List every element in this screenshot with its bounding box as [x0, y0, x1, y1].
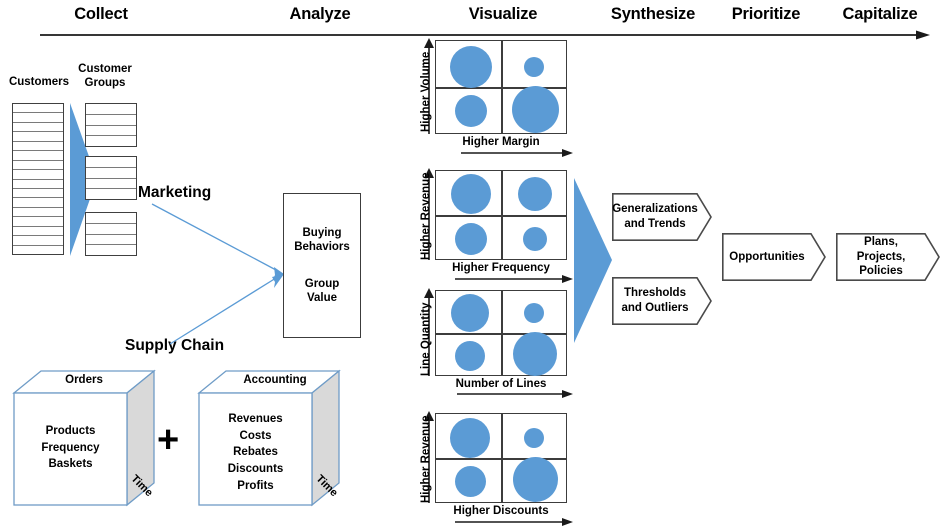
bubble-chart-4: Higher Revenue Higher Discounts: [400, 411, 575, 526]
table-row: [86, 224, 136, 235]
diagram-canvas: Collect Analyze Visualize Synthesize Pri…: [0, 0, 943, 531]
buying-behaviors-line1: Buying: [303, 226, 342, 240]
bubble-top-right: [518, 177, 552, 211]
chart-1-x-axis-arrow-icon: [461, 149, 573, 159]
table-row: [86, 115, 136, 126]
bubble-bottom-right: [513, 332, 557, 376]
table-row: [86, 126, 136, 137]
accounting-body-line1: Revenues: [199, 411, 312, 428]
plans-line1: Plans, Projects,: [842, 235, 920, 265]
bubble-chart-2: Higher Revenue Higher Frequency: [400, 168, 575, 278]
bubble-top-right: [524, 57, 544, 77]
orders-body-line1: Products: [14, 423, 127, 440]
bubble-bottom-right: [513, 457, 558, 502]
accounting-body: Revenues Costs Rebates Discounts Profits: [199, 411, 312, 494]
accounting-body-line5: Profits: [199, 478, 312, 495]
customer-group-table-3: [85, 212, 137, 256]
thresholds-and-outliers-chevron[interactable]: Thresholds and Outliers: [612, 277, 712, 325]
bubble-top-right: [524, 303, 544, 323]
phase-header-collect: Collect: [31, 5, 171, 24]
bubble-bottom-right: [512, 86, 559, 133]
orders-body-line2: Frequency: [14, 440, 127, 457]
bubble-top-left: [451, 174, 491, 214]
bubble-bottom-left: [455, 95, 487, 127]
opportunities-chevron[interactable]: Opportunities: [722, 233, 826, 281]
chart-1-y-axis-label: Higher Volume: [420, 52, 432, 132]
convergence-arrows-icon: [148, 198, 288, 350]
chart-4-y-axis-label: Higher Revenue: [420, 415, 432, 503]
phase-header-capitalize: Capitalize: [810, 5, 943, 24]
customers-table: [12, 103, 64, 255]
generalizations-and-trends-text: Generalizations and Trends: [612, 193, 698, 241]
bubble-top-right: [524, 428, 544, 448]
table-row: [13, 170, 63, 179]
chart-4-plot-area: [435, 413, 567, 503]
table-row: [86, 104, 136, 115]
chart-1-plot-area: [435, 40, 567, 134]
thresholds-line1: Thresholds: [621, 286, 688, 301]
customer-group-table-1: [85, 103, 137, 147]
table-row: [86, 136, 136, 146]
bubble-top-left: [450, 418, 490, 458]
table-row: [86, 213, 136, 224]
table-row: [13, 151, 63, 160]
customer-groups-label-line1: Customer: [66, 63, 144, 77]
accounting-cube: Accounting Revenues Costs Rebates Discou…: [199, 371, 354, 516]
table-row: [13, 104, 63, 113]
bubble-bottom-left: [455, 466, 486, 497]
chart-4-x-axis-label: Higher Discounts: [435, 505, 567, 517]
opportunities-text: Opportunities: [722, 233, 812, 281]
chart-3-x-axis-arrow-icon: [457, 390, 573, 400]
table-row: [13, 161, 63, 170]
table-row: [13, 132, 63, 141]
chart-2-x-axis-arrow-icon: [455, 275, 573, 285]
generalizations-line2: and Trends: [612, 217, 698, 232]
bubble-bottom-left: [455, 341, 485, 371]
table-row: [13, 246, 63, 254]
table-row: [13, 180, 63, 189]
table-row: [13, 113, 63, 122]
table-row: [86, 245, 136, 255]
table-row: [13, 142, 63, 151]
bubble-bottom-left: [455, 223, 487, 255]
chart-1-x-axis-label: Higher Margin: [435, 136, 567, 148]
plus-icon: +: [157, 421, 179, 459]
table-row: [86, 189, 136, 199]
bubble-top-left: [450, 46, 492, 88]
table-row: [13, 198, 63, 207]
chart-4-x-axis-arrow-icon: [455, 518, 573, 528]
chart-3-y-axis-label: Line Quantity: [420, 303, 432, 376]
buying-behaviors-line2: Behaviors: [294, 240, 350, 254]
customer-group-table-2: [85, 156, 137, 200]
accounting-body-line4: Discounts: [199, 461, 312, 478]
phase-header-visualize: Visualize: [433, 5, 573, 24]
table-row: [86, 168, 136, 179]
bubble-top-left: [451, 294, 489, 332]
generalizations-line1: Generalizations: [612, 202, 698, 217]
accounting-title: Accounting: [205, 374, 345, 386]
customer-groups-label: Customer Groups: [66, 63, 144, 91]
chart-3-x-axis-label: Number of Lines: [435, 378, 567, 390]
plans-line2: Policies: [842, 264, 920, 279]
thresholds-and-outliers-text: Thresholds and Outliers: [612, 277, 698, 325]
chart-2-horizontal-divider: [436, 215, 566, 217]
customer-groups-label-line2: Groups: [66, 77, 144, 91]
bubble-chart-3: Line Quantity Number of Lines: [400, 288, 575, 398]
synthesis-triangle-icon: [572, 178, 612, 343]
chart-3-plot-area: [435, 290, 567, 376]
group-value-line1: Group: [305, 277, 340, 291]
chart-2-plot-area: [435, 170, 567, 260]
accounting-body-line3: Rebates: [199, 444, 312, 461]
buying-behaviors-box: Buying Behaviors Group Value: [283, 193, 361, 338]
table-row: [13, 189, 63, 198]
table-row: [13, 227, 63, 236]
plans-projects-policies-chevron[interactable]: Plans, Projects, Policies: [836, 233, 940, 281]
plans-projects-policies-text: Plans, Projects, Policies: [836, 233, 926, 281]
orders-body: Products Frequency Baskets: [14, 423, 127, 473]
table-row: [86, 179, 136, 190]
generalizations-and-trends-chevron[interactable]: Generalizations and Trends: [612, 193, 712, 241]
group-value-line2: Value: [307, 291, 337, 305]
accounting-body-line2: Costs: [199, 428, 312, 445]
orders-title: Orders: [14, 374, 154, 386]
table-row: [13, 123, 63, 132]
orders-body-line3: Baskets: [14, 456, 127, 473]
table-row: [13, 236, 63, 245]
chart-2-x-axis-label: Higher Frequency: [435, 262, 567, 274]
chart-2-y-axis-label: Higher Revenue: [420, 172, 432, 260]
table-row: [86, 235, 136, 246]
thresholds-line2: and Outliers: [621, 301, 688, 316]
table-row: [13, 208, 63, 217]
bubble-chart-1: Higher Volume Higher Margin: [400, 38, 575, 148]
table-row: [13, 217, 63, 226]
bubble-bottom-right: [523, 227, 547, 251]
phase-header-analyze: Analyze: [250, 5, 390, 24]
table-row: [86, 157, 136, 168]
orders-cube: Orders Products Frequency Baskets Time: [14, 371, 169, 516]
